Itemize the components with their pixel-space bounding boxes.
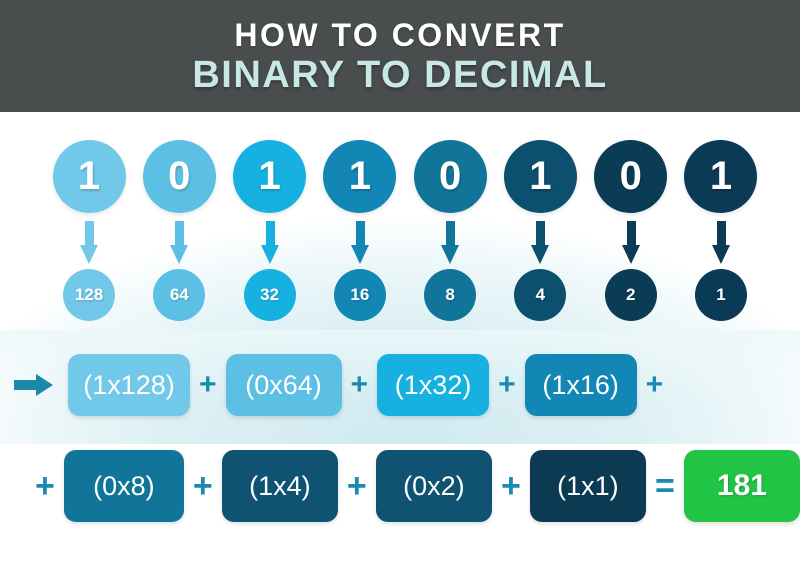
binary-column: 02 xyxy=(592,140,670,330)
arrow-down-icon xyxy=(622,221,640,265)
arrow-down-head xyxy=(622,245,640,264)
binary-column: 11 xyxy=(682,140,760,330)
arrow-down-shaft xyxy=(627,221,636,247)
equation-term-box: (1x4) xyxy=(222,450,338,522)
plus-operator: + xyxy=(199,368,217,402)
plus-operator: + xyxy=(501,467,521,506)
binary-column: 064 xyxy=(140,140,218,330)
plus-operator-trailing: + xyxy=(646,368,664,402)
bit-circle: 0 xyxy=(414,140,487,213)
bit-circle: 1 xyxy=(323,140,396,213)
arrow-down-shaft xyxy=(356,221,365,247)
binary-columns: 112806413211608140211 xyxy=(50,140,760,330)
arrow-down-shaft xyxy=(536,221,545,247)
place-value-circle: 32 xyxy=(244,269,296,321)
binary-column: 132 xyxy=(231,140,309,330)
arrow-down-head xyxy=(351,245,369,264)
place-value-circle: 1 xyxy=(695,269,747,321)
arrow-down-icon xyxy=(351,221,369,265)
arrow-down-head xyxy=(531,245,549,264)
equation-term-box: (0x8) xyxy=(64,450,184,522)
bit-circle: 1 xyxy=(233,140,306,213)
equation-row-2: +(0x8)+(1x4)+(0x2)+(1x1)=181 xyxy=(0,447,800,525)
plus-operator-leading: + xyxy=(35,467,55,506)
equation-term-box: (1x16) xyxy=(525,354,637,416)
arrow-right-head xyxy=(36,374,53,396)
arrow-down-head xyxy=(712,245,730,264)
plus-operator: + xyxy=(351,368,369,402)
binary-column: 116 xyxy=(321,140,399,330)
binary-column: 14 xyxy=(501,140,579,330)
arrow-down-icon xyxy=(80,221,98,265)
bit-circle: 1 xyxy=(53,140,126,213)
equation-term-box: (1x32) xyxy=(377,354,489,416)
arrow-down-head xyxy=(441,245,459,264)
bit-circle: 0 xyxy=(594,140,667,213)
arrow-down-head xyxy=(170,245,188,264)
equation-term-box: (1x128) xyxy=(68,354,190,416)
place-value-circle: 64 xyxy=(153,269,205,321)
page-title-line2: BINARY TO DECIMAL xyxy=(192,55,607,97)
header-banner: HOW TO CONVERT BINARY TO DECIMAL xyxy=(0,0,800,112)
place-value-circle: 16 xyxy=(334,269,386,321)
arrow-down-icon xyxy=(441,221,459,265)
equation-term-box: (1x1) xyxy=(530,450,646,522)
arrow-down-shaft xyxy=(85,221,94,247)
plus-operator: + xyxy=(347,467,367,506)
bit-circle: 1 xyxy=(684,140,757,213)
result-box: 181 xyxy=(684,450,800,522)
arrow-down-shaft xyxy=(266,221,275,247)
arrow-down-icon xyxy=(531,221,549,265)
plus-operator: + xyxy=(498,368,516,402)
arrow-right-shaft xyxy=(14,380,38,390)
binary-column: 08 xyxy=(411,140,489,330)
place-value-circle: 8 xyxy=(424,269,476,321)
page-title-line1: HOW TO CONVERT xyxy=(234,19,565,53)
place-value-circle: 128 xyxy=(63,269,115,321)
equals-operator: = xyxy=(655,467,675,506)
bit-circle: 1 xyxy=(504,140,577,213)
place-value-circle: 4 xyxy=(514,269,566,321)
arrow-down-shaft xyxy=(446,221,455,247)
equation-term-box: (0x2) xyxy=(376,450,492,522)
binary-column: 1128 xyxy=(50,140,128,330)
bit-circle: 0 xyxy=(143,140,216,213)
arrow-down-head xyxy=(261,245,279,264)
arrow-down-head xyxy=(80,245,98,264)
plus-operator: + xyxy=(193,467,213,506)
arrow-down-icon xyxy=(712,221,730,265)
arrow-down-shaft xyxy=(717,221,726,247)
arrow-down-shaft xyxy=(175,221,184,247)
arrow-down-icon xyxy=(261,221,279,265)
equation-row-1: (1x128)+(0x64)+(1x32)+(1x16)+ xyxy=(0,352,800,418)
arrow-down-icon xyxy=(170,221,188,265)
arrow-right-icon xyxy=(14,374,54,396)
equation-term-box: (0x64) xyxy=(226,354,342,416)
place-value-circle: 2 xyxy=(605,269,657,321)
